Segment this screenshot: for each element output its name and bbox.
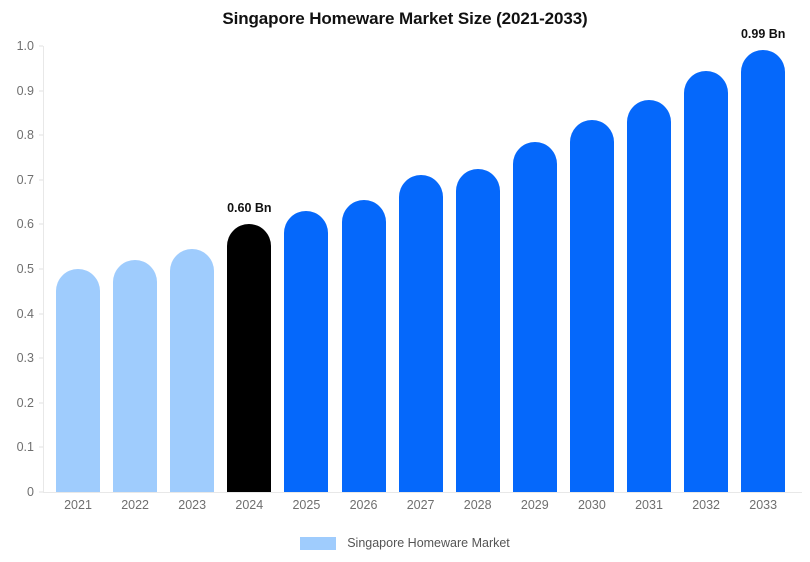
bar-2027[interactable] bbox=[399, 175, 443, 492]
x-axis-tick-label: 2023 bbox=[170, 498, 214, 512]
y-axis-tick-label: 0 bbox=[0, 485, 34, 499]
chart-container: Singapore Homeware Market Size (2021-203… bbox=[0, 0, 810, 562]
bar-2030[interactable] bbox=[570, 120, 614, 492]
y-axis-tick-mark bbox=[39, 358, 43, 359]
y-axis-tick-mark bbox=[39, 224, 43, 225]
y-axis-tick-mark bbox=[39, 313, 43, 314]
bar-2023[interactable] bbox=[170, 249, 214, 492]
y-axis-tick-mark bbox=[39, 46, 43, 47]
y-axis-tick-label: 1.0 bbox=[0, 39, 34, 53]
chart-legend: Singapore Homeware Market bbox=[0, 536, 810, 550]
y-axis-tick-label: 0.1 bbox=[0, 440, 34, 454]
x-axis-tick-label: 2029 bbox=[513, 498, 557, 512]
x-axis-line bbox=[43, 492, 802, 493]
y-axis-tick-label: 0.3 bbox=[0, 351, 34, 365]
bar-2032[interactable] bbox=[684, 71, 728, 492]
bar-value-label: 0.60 Bn bbox=[189, 201, 309, 215]
y-axis-tick-mark bbox=[39, 402, 43, 403]
y-axis-tick-label: 0.4 bbox=[0, 307, 34, 321]
y-axis-tick-label: 0.7 bbox=[0, 173, 34, 187]
y-axis-tick-mark bbox=[39, 90, 43, 91]
y-axis-tick-mark bbox=[39, 269, 43, 270]
legend-label: Singapore Homeware Market bbox=[347, 536, 510, 550]
y-axis-tick-label: 0.2 bbox=[0, 396, 34, 410]
x-axis-tick-label: 2031 bbox=[627, 498, 671, 512]
y-axis-tick-mark bbox=[39, 135, 43, 136]
bar-2028[interactable] bbox=[456, 169, 500, 492]
bar-2024[interactable] bbox=[227, 224, 271, 492]
y-axis-tick-label: 0.9 bbox=[0, 84, 34, 98]
legend-swatch bbox=[300, 537, 336, 550]
y-axis-tick-label: 0.5 bbox=[0, 262, 34, 276]
y-axis-tick-mark bbox=[39, 447, 43, 448]
bar-2025[interactable] bbox=[284, 211, 328, 492]
y-axis-tick-mark bbox=[39, 492, 43, 493]
bar-2026[interactable] bbox=[342, 200, 386, 492]
x-axis-tick-label: 2030 bbox=[570, 498, 614, 512]
bar-2031[interactable] bbox=[627, 100, 671, 492]
y-axis-line bbox=[43, 46, 44, 492]
chart-title: Singapore Homeware Market Size (2021-203… bbox=[0, 9, 810, 29]
x-axis-tick-label: 2028 bbox=[456, 498, 500, 512]
x-axis-tick-label: 2033 bbox=[741, 498, 785, 512]
bar-2021[interactable] bbox=[56, 269, 100, 492]
bar-value-label: 0.99 Bn bbox=[703, 27, 810, 41]
legend-item[interactable]: Singapore Homeware Market bbox=[300, 536, 510, 550]
x-axis-tick-label: 2025 bbox=[284, 498, 328, 512]
x-axis-tick-label: 2022 bbox=[113, 498, 157, 512]
y-axis-tick-mark bbox=[39, 179, 43, 180]
x-axis-tick-label: 2032 bbox=[684, 498, 728, 512]
y-axis-tick-label: 0.8 bbox=[0, 128, 34, 142]
plot-area: 1.00.90.80.70.60.50.40.30.20.10 20212022… bbox=[43, 46, 802, 492]
bar-2022[interactable] bbox=[113, 260, 157, 492]
x-axis-tick-label: 2024 bbox=[227, 498, 271, 512]
x-axis-tick-label: 2027 bbox=[399, 498, 443, 512]
y-axis-tick-label: 0.6 bbox=[0, 217, 34, 231]
x-axis-tick-label: 2021 bbox=[56, 498, 100, 512]
bar-2033[interactable] bbox=[741, 50, 785, 492]
x-axis-tick-label: 2026 bbox=[342, 498, 386, 512]
bar-2029[interactable] bbox=[513, 142, 557, 492]
